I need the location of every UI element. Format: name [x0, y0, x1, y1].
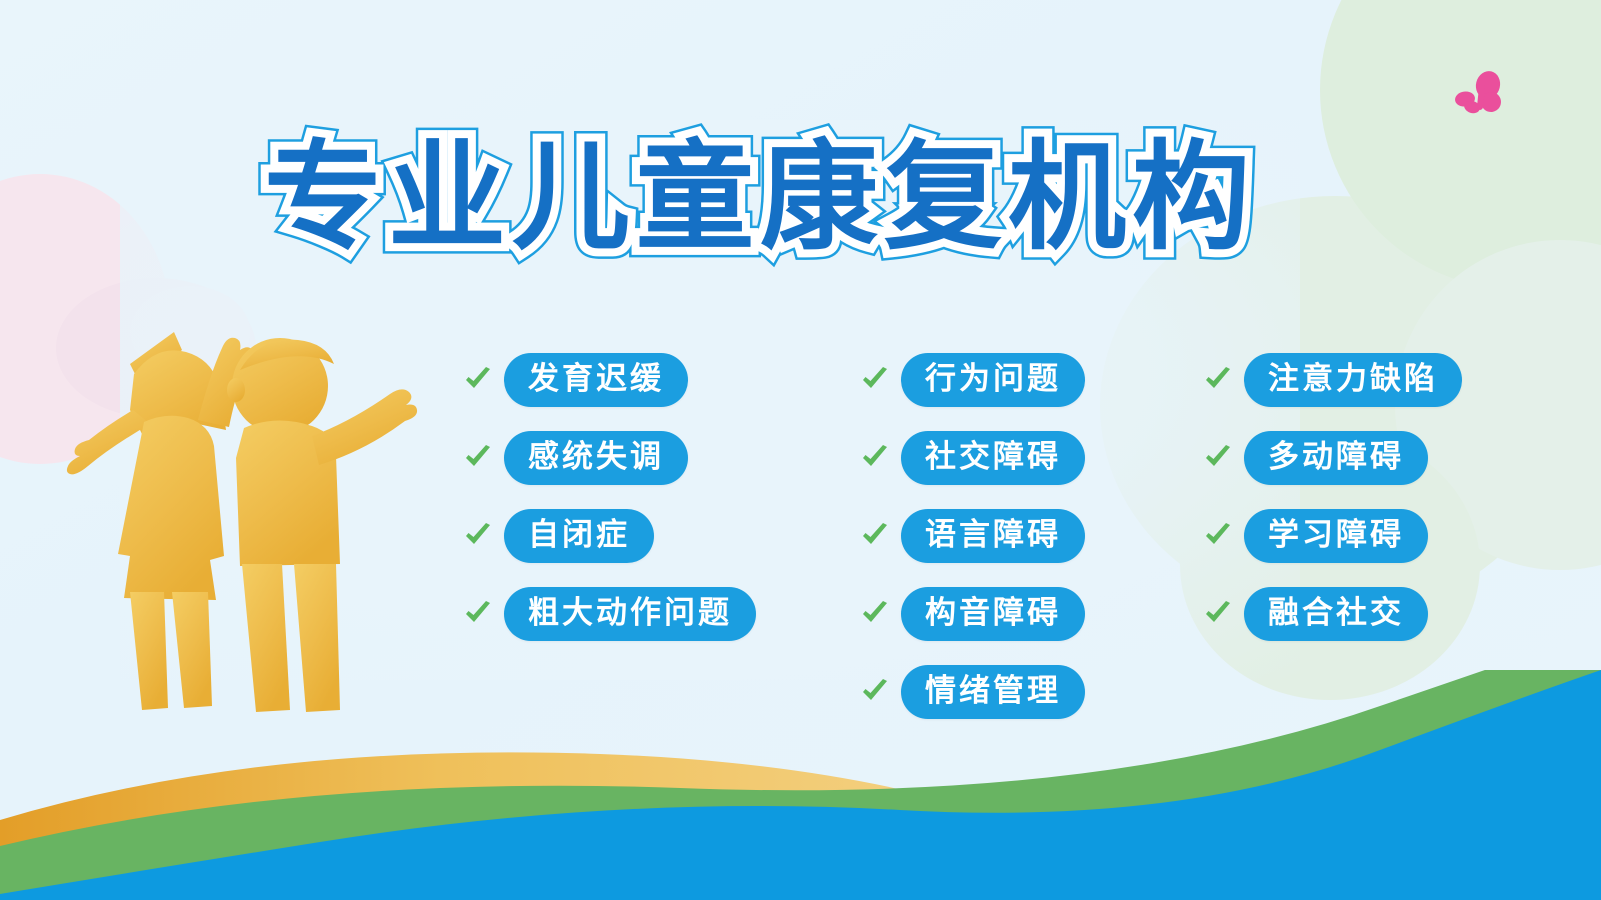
service-pill[interactable]: 多动障碍: [1244, 431, 1428, 485]
service-pill[interactable]: 发育迟缓: [504, 353, 688, 407]
service-pill[interactable]: 社交障碍: [901, 431, 1085, 485]
service-pill-label: 自闭症: [528, 520, 630, 551]
check-icon: [860, 521, 890, 551]
check-icon: [463, 365, 493, 395]
service-pill[interactable]: 感统失调: [504, 431, 688, 485]
service-tag-row[interactable]: 多动障碍: [1203, 430, 1428, 486]
service-pill-label: 注意力缺陷: [1268, 364, 1438, 395]
service-tag-row[interactable]: 融合社交: [1203, 586, 1428, 642]
check-icon: [860, 365, 890, 395]
check-icon: [1203, 443, 1233, 473]
check-icon: [463, 443, 493, 473]
service-tag-row[interactable]: 学习障碍: [1203, 508, 1428, 564]
service-pill[interactable]: 注意力缺陷: [1244, 353, 1462, 407]
check-icon: [463, 599, 493, 629]
service-pill-label: 融合社交: [1268, 598, 1404, 629]
check-icon: [1203, 365, 1233, 395]
service-tag-row[interactable]: 感统失调: [463, 430, 688, 486]
service-tag-row[interactable]: 情绪管理: [860, 664, 1085, 720]
service-tag-row[interactable]: 构音障碍: [860, 586, 1085, 642]
service-pill-label: 学习障碍: [1268, 520, 1404, 551]
service-tag-row[interactable]: 注意力缺陷: [1203, 352, 1462, 408]
check-icon: [1203, 521, 1233, 551]
service-tag-row[interactable]: 社交障碍: [860, 430, 1085, 486]
poster-canvas: 专业儿童康复机构 专业儿童康复机构 专业儿童康复机构: [0, 0, 1601, 900]
service-tag-row[interactable]: 粗大动作问题: [463, 586, 756, 642]
service-pill-label: 多动障碍: [1268, 442, 1404, 473]
service-pill[interactable]: 自闭症: [504, 509, 654, 563]
service-tag-row[interactable]: 自闭症: [463, 508, 654, 564]
service-pill-label: 发育迟缓: [528, 364, 664, 395]
check-icon: [860, 599, 890, 629]
service-pill-label: 感统失调: [528, 442, 664, 473]
check-icon: [463, 521, 493, 551]
check-icon: [860, 677, 890, 707]
service-pill[interactable]: 学习障碍: [1244, 509, 1428, 563]
service-pill[interactable]: 构音障碍: [901, 587, 1085, 641]
service-pill[interactable]: 融合社交: [1244, 587, 1428, 641]
service-pill[interactable]: 情绪管理: [901, 665, 1085, 719]
service-pill[interactable]: 行为问题: [901, 353, 1085, 407]
check-icon: [1203, 599, 1233, 629]
service-tag-row[interactable]: 发育迟缓: [463, 352, 688, 408]
service-tag-row[interactable]: 语言障碍: [860, 508, 1085, 564]
service-tag-area: 发育迟缓 感统失调 自闭症 粗大动作问题: [0, 352, 1601, 772]
service-pill[interactable]: 语言障碍: [901, 509, 1085, 563]
service-pill-label: 粗大动作问题: [528, 598, 732, 629]
check-icon: [860, 443, 890, 473]
service-pill-label: 情绪管理: [925, 676, 1061, 707]
service-pill[interactable]: 粗大动作问题: [504, 587, 756, 641]
service-pill-label: 构音障碍: [925, 598, 1061, 629]
service-tag-row[interactable]: 行为问题: [860, 352, 1085, 408]
butterfly-icon: [1448, 66, 1510, 128]
service-pill-label: 社交障碍: [925, 442, 1061, 473]
service-pill-label: 行为问题: [925, 364, 1061, 395]
service-pill-label: 语言障碍: [925, 520, 1061, 551]
